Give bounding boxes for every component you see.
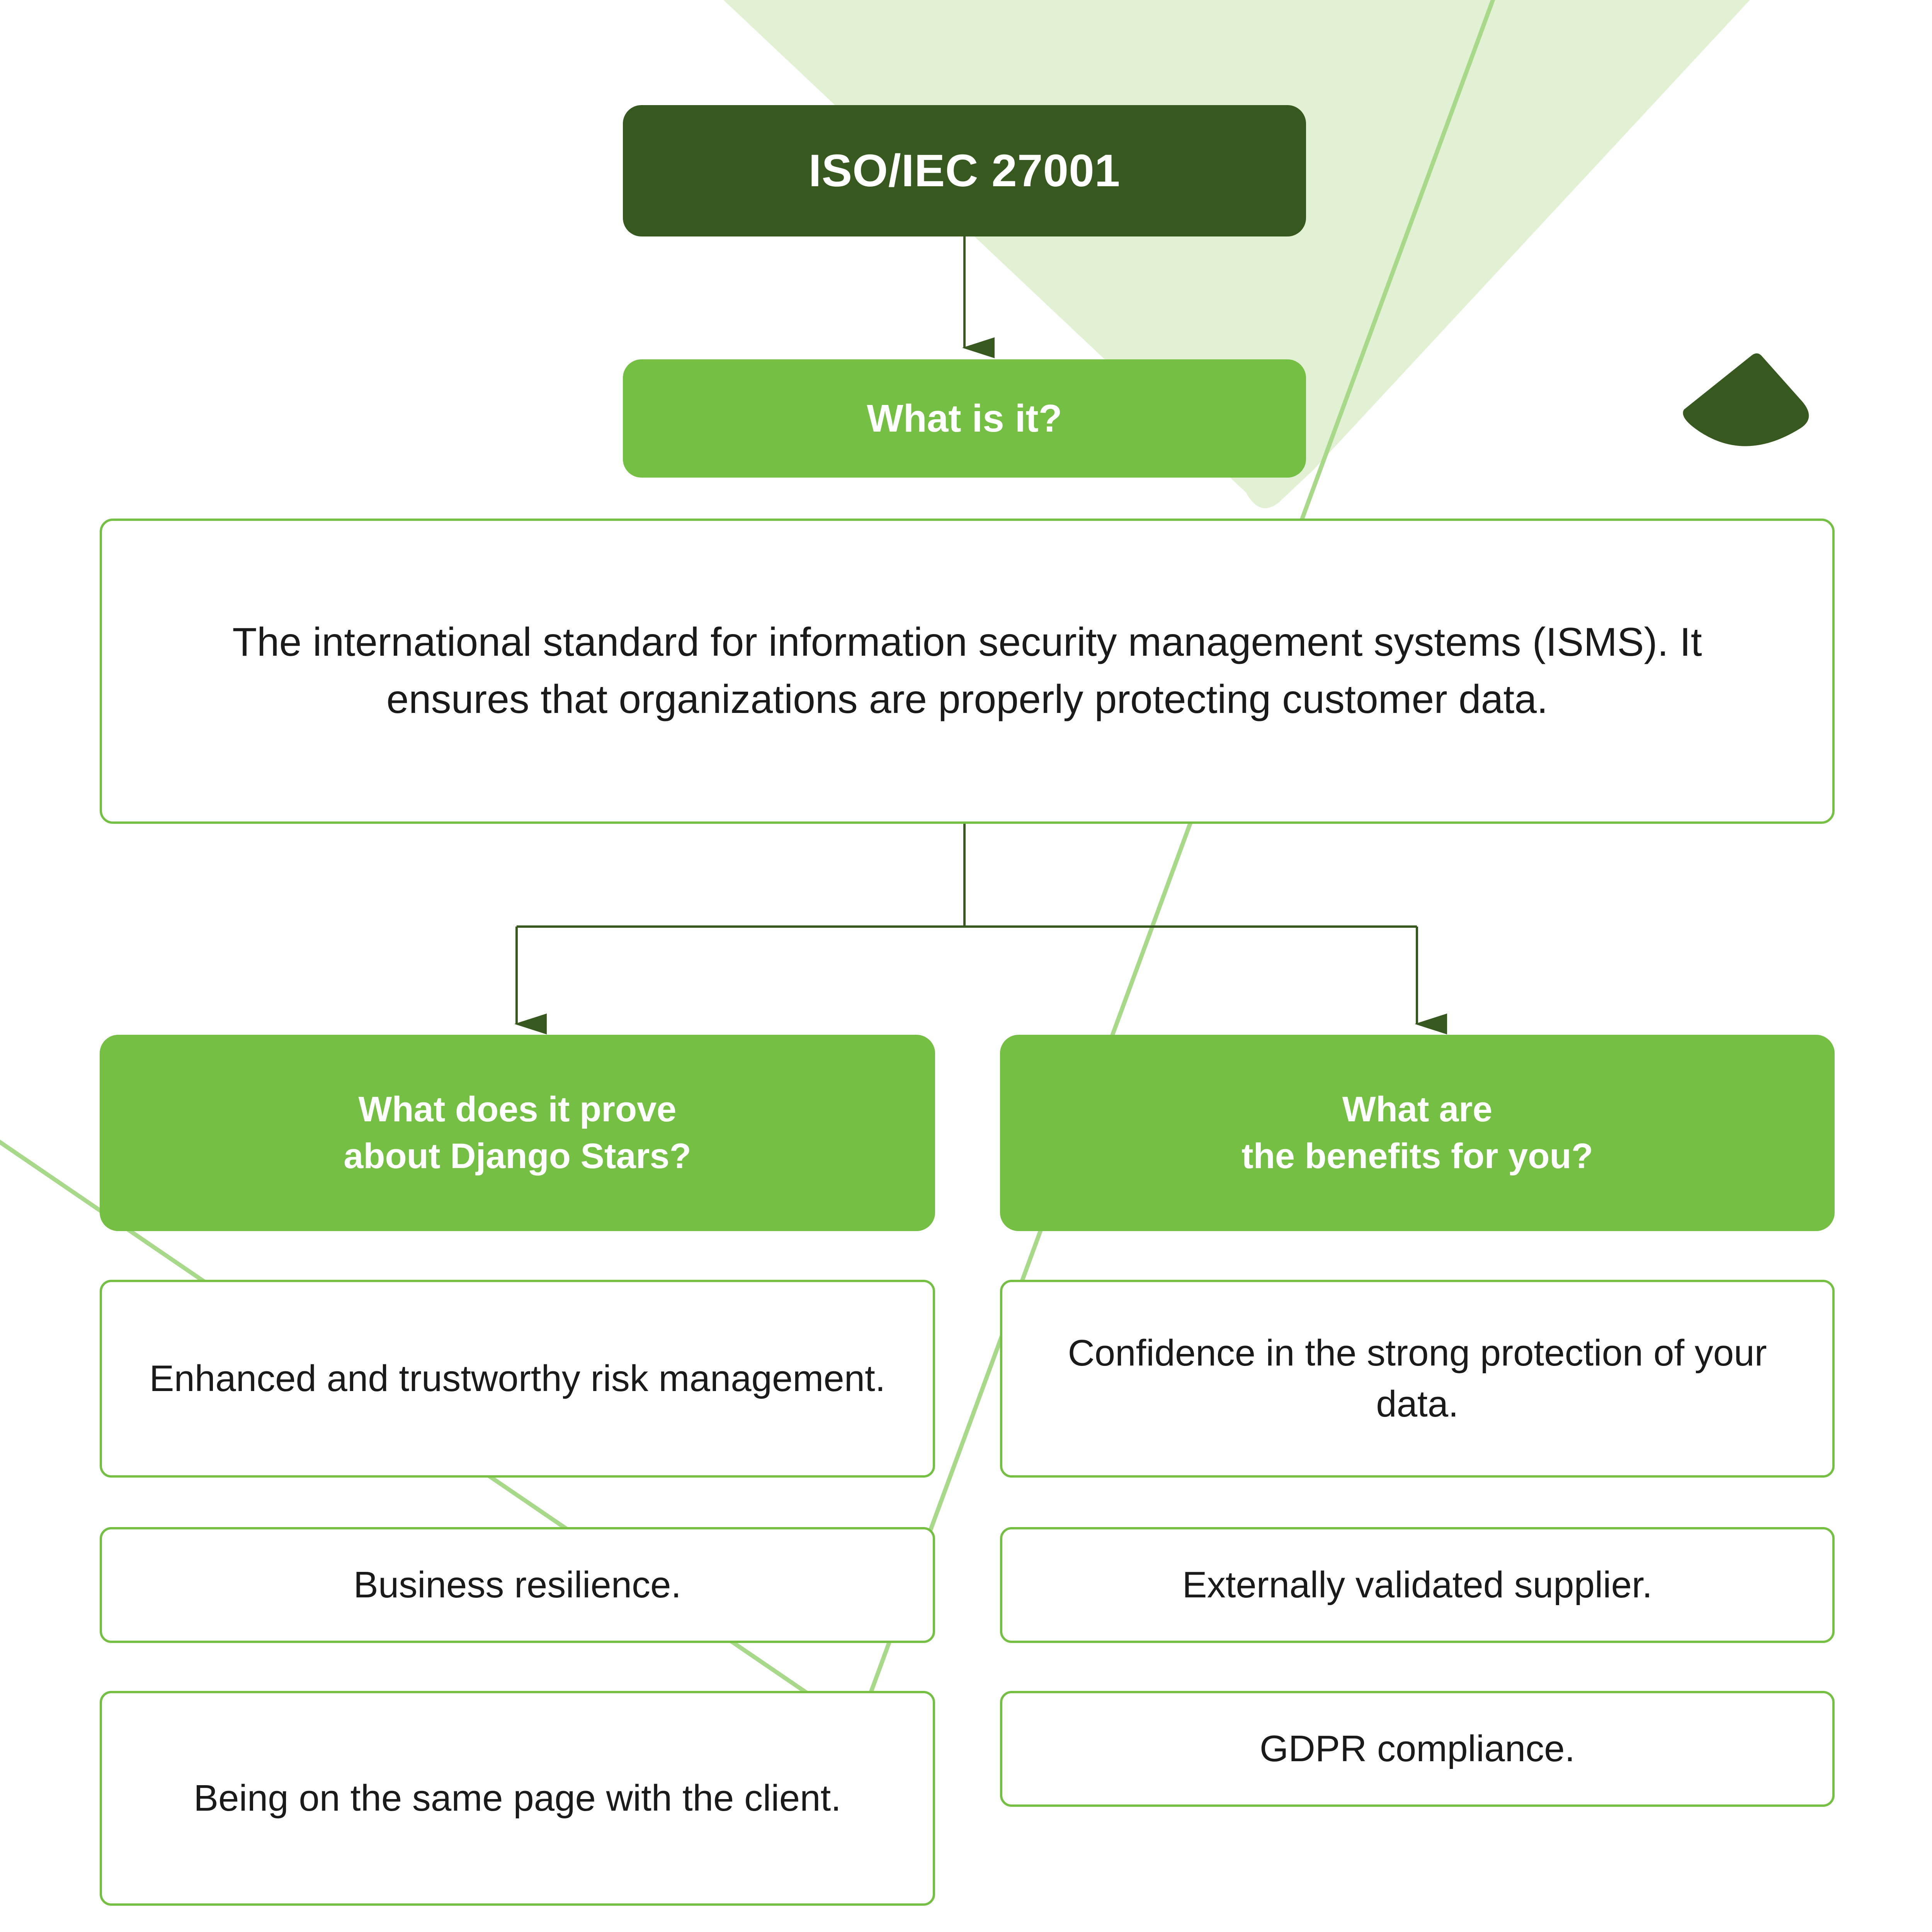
list-item-label: Business resilience. bbox=[125, 1560, 910, 1611]
what-is-it-label: What is it? bbox=[623, 396, 1306, 441]
list-item: Confidence in the strong protection of y… bbox=[1000, 1280, 1835, 1478]
title-label: ISO/IEC 27001 bbox=[623, 145, 1306, 197]
title-node: ISO/IEC 27001 bbox=[623, 105, 1306, 236]
list-item-label: Confidence in the strong protection of y… bbox=[1026, 1328, 1809, 1430]
dark-green-wedge-icon bbox=[1683, 353, 1809, 446]
description-text: The international standard for informati… bbox=[168, 614, 1767, 728]
what-is-it-node: What is it? bbox=[623, 359, 1306, 478]
list-item: Business resilience. bbox=[100, 1527, 935, 1643]
list-item: Externally validated supplier. bbox=[1000, 1527, 1835, 1643]
column-header-label: What are the benefits for you? bbox=[1000, 1086, 1835, 1180]
list-item: Being on the same page with the client. bbox=[100, 1691, 935, 1906]
infographic-canvas: ISO/IEC 27001 What is it? The internatio… bbox=[0, 0, 1932, 1932]
list-item-label: Being on the same page with the client. bbox=[125, 1773, 910, 1824]
list-item-label: GDPR compliance. bbox=[1026, 1723, 1809, 1774]
list-item: GDPR compliance. bbox=[1000, 1691, 1835, 1807]
column-header-label: What does it prove about Django Stars? bbox=[100, 1086, 935, 1180]
list-item: Enhanced and trustworthy risk management… bbox=[100, 1280, 935, 1478]
column-header-what-are-the-benefits: What are the benefits for you? bbox=[1000, 1035, 1835, 1231]
list-item-label: Enhanced and trustworthy risk management… bbox=[125, 1353, 910, 1404]
list-item-label: Externally validated supplier. bbox=[1026, 1560, 1809, 1611]
column-header-what-does-it-prove: What does it prove about Django Stars? bbox=[100, 1035, 935, 1231]
description-node: The international standard for informati… bbox=[100, 519, 1835, 824]
